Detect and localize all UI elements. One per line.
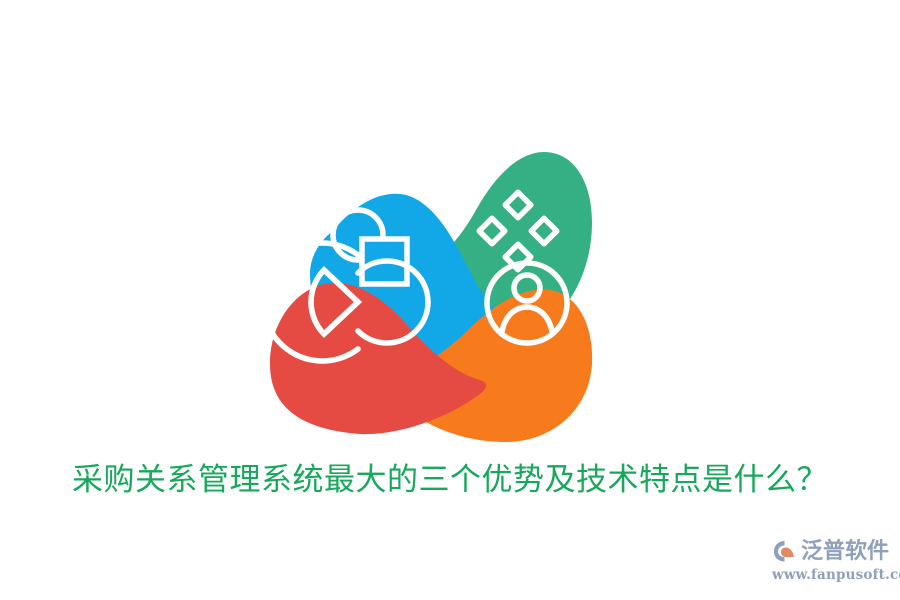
four-petal-pinwheel-logo xyxy=(262,112,598,442)
watermark-brand-name: 泛普软件 xyxy=(801,538,889,564)
watermark-url: www.fanpusoft.com xyxy=(772,567,894,583)
page-title: 采购关系管理系统最大的三个优势及技术特点是什么？ xyxy=(0,458,900,502)
watermark-brand-row: 泛普软件 xyxy=(772,536,894,566)
fanpu-logo-icon xyxy=(772,538,798,564)
brand-watermark: 泛普软件 www.fanpusoft.com xyxy=(772,536,894,586)
page-canvas: 采购关系管理系统最大的三个优势及技术特点是什么？ 泛普软件 www.fanpus… xyxy=(0,0,900,600)
